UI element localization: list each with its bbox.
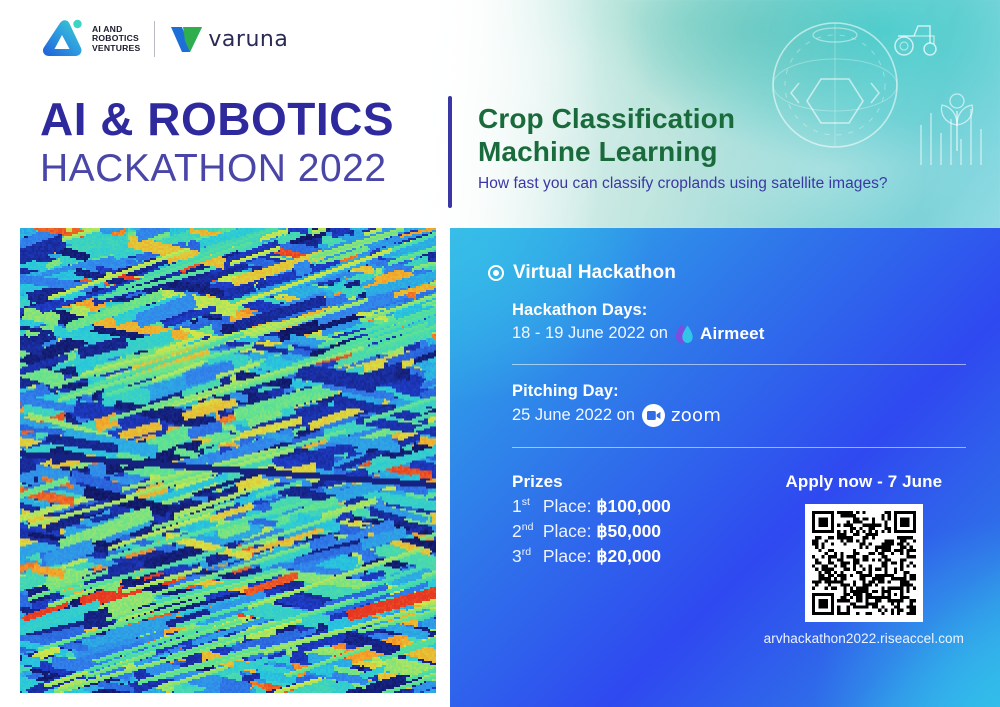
title-sub: HACKATHON 2022 [40,147,394,191]
zoom-wordmark: zoom [671,405,721,426]
varuna-wordmark: varuna [208,27,288,52]
headline-line-1: Crop Classification [478,102,988,135]
prize-rank: 1st [512,496,538,517]
virtual-hackathon-option[interactable]: Virtual Hackathon [488,262,972,284]
qr-code-canvas [812,511,916,615]
prize-label: Place: [538,521,596,542]
satellite-image [20,228,436,693]
pitching-day-block: Pitching Day: 25 June 2022 on zoom [488,382,972,427]
pitching-day-date: 25 June 2022 on [512,406,635,425]
arv-wordmark: AI AND ROBOTICS VENTURES [92,25,140,54]
prize-rank: 3rd [512,546,538,567]
prize-amount: ฿100,000 [596,496,670,517]
prizes-block: Prizes 1st Place: ฿100,0002nd Place: ฿50… [512,472,671,567]
theme-block: Crop Classification Machine Learning How… [478,102,988,193]
ndvi-crop-classification-canvas [20,228,436,693]
hackathon-days-date: 18 - 19 June 2022 on [512,324,668,343]
prize-amount: ฿20,000 [596,546,661,567]
zoom-camera-logo-icon [642,404,665,427]
varuna-checkmark-logo-icon [169,24,203,54]
prize-row: 1st Place: ฿100,000 [512,496,671,517]
airmeet-logo[interactable]: Airmeet [675,323,765,344]
varuna-logo[interactable]: varuna [169,24,288,54]
prize-row: 2nd Place: ฿50,000 [512,521,671,542]
prize-label: Place: [538,496,596,517]
pitching-day-label: Pitching Day: [512,382,972,401]
virtual-hackathon-label: Virtual Hackathon [513,262,676,284]
prize-label: Place: [538,546,596,567]
prizes-title: Prizes [512,472,671,492]
arv-line-3: VENTURES [92,44,140,54]
airmeet-droplet-logo-icon [675,323,694,344]
prize-list: 1st Place: ฿100,0002nd Place: ฿50,0003rd… [512,496,671,567]
event-info-panel: Virtual Hackathon Hackathon Days: 18 - 1… [450,228,1000,707]
zoom-logo[interactable]: zoom [642,404,721,427]
logo-row: AI AND ROBOTICS VENTURES varuna [40,18,288,60]
apply-now-text: Apply now - 7 June [785,472,942,492]
arv-triangle-logo-icon [40,18,84,60]
airmeet-wordmark: Airmeet [700,324,765,344]
apply-url: arvhackathon2022.riseaccel.com [764,631,964,646]
prize-row: 3rd Place: ฿20,000 [512,546,671,567]
divider-1 [512,364,966,365]
title-main: AI & ROBOTICS [40,96,394,143]
divider-2 [512,447,966,448]
tractor-icon [890,18,946,58]
hackathon-days-block: Hackathon Days: 18 - 19 June 2022 on Air… [488,301,972,344]
poster-title: AI & ROBOTICS HACKATHON 2022 [40,96,394,191]
headline-line-2: Machine Learning [478,135,988,168]
title-vertical-divider [448,96,452,208]
qr-code-icon[interactable] [805,504,923,622]
prize-amount: ฿50,000 [596,521,661,542]
hackathon-days-label: Hackathon Days: [512,301,972,320]
hackathon-poster: AI AND ROBOTICS VENTURES varuna AI & ROB… [0,0,1000,707]
arv-logo[interactable]: AI AND ROBOTICS VENTURES [40,18,140,60]
prize-rank: 2nd [512,521,538,542]
theme-tagline: How fast you can classify croplands usin… [478,175,988,193]
logo-divider [154,21,155,57]
radio-selected-icon [488,265,504,281]
arv-line-1: AI AND [92,24,122,34]
apply-block[interactable]: Apply now - 7 June arvhackathon2022.rise… [764,472,964,646]
